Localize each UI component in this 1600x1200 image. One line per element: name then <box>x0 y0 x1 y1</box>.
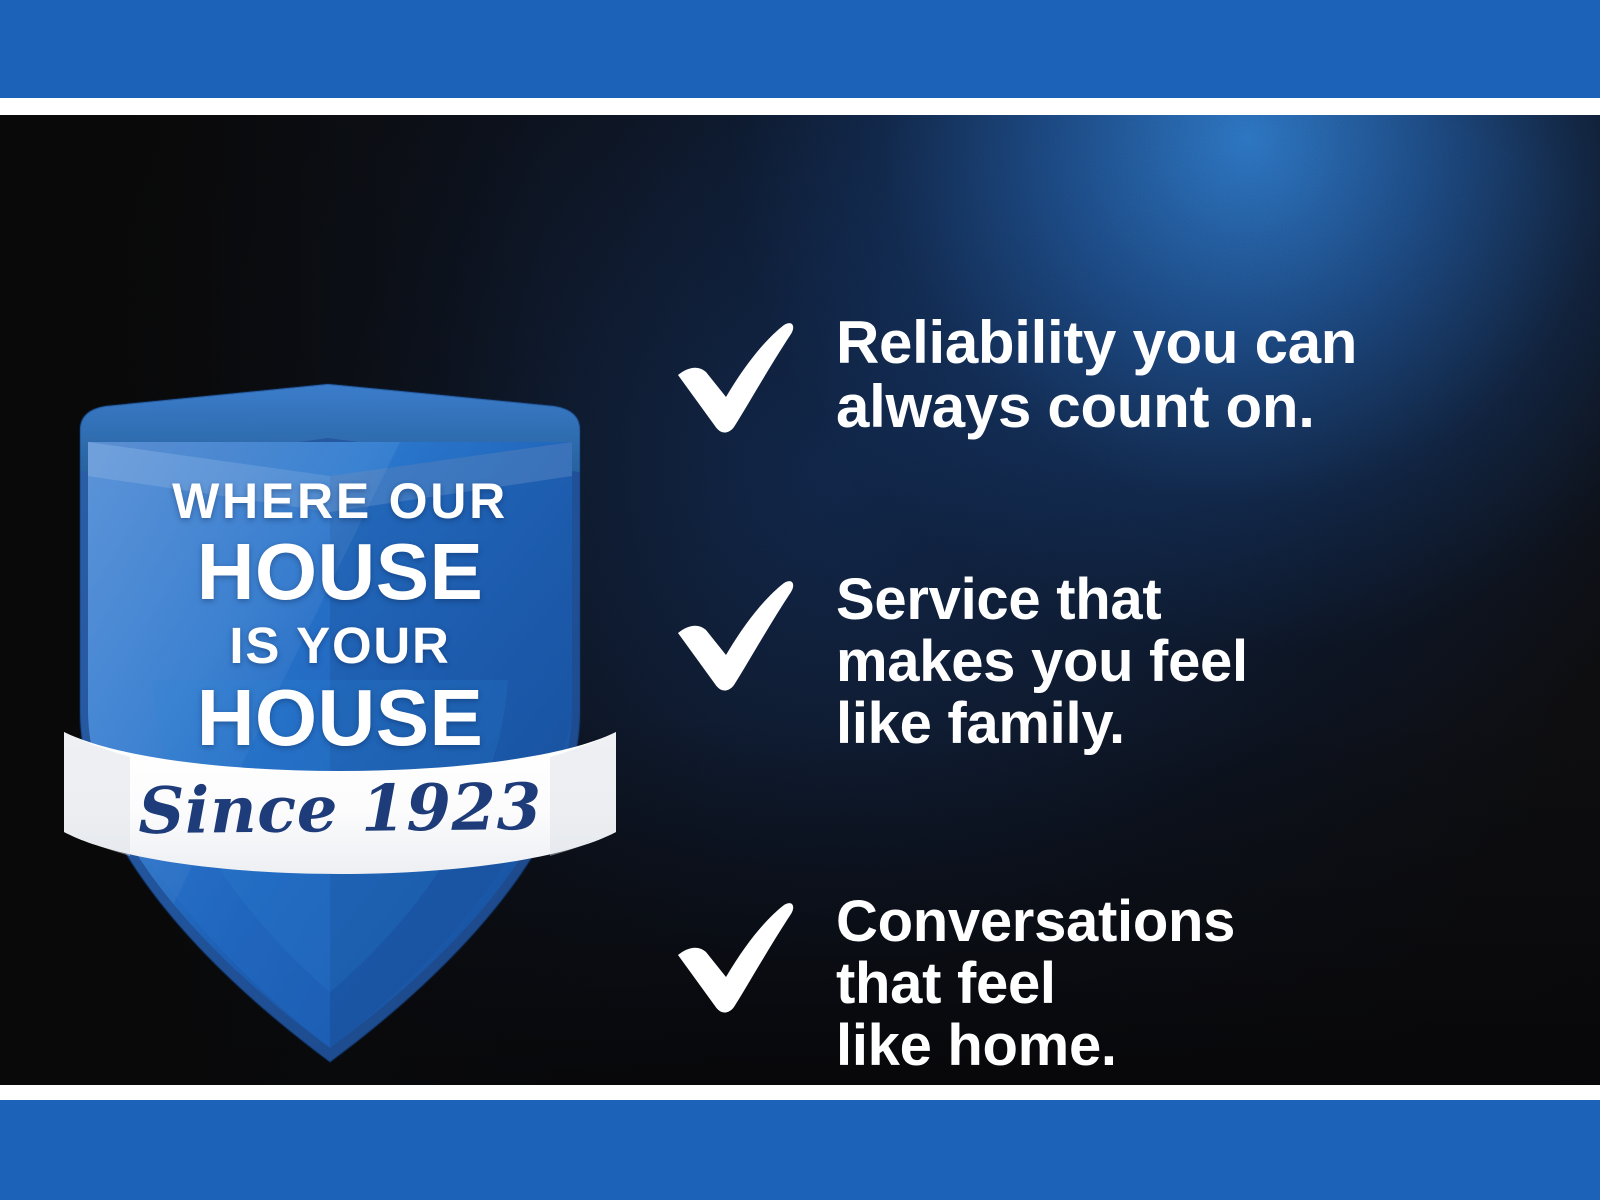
checkmark-icon <box>668 575 796 693</box>
shield-badge: WHERE OUR HOUSE IS YOUR HOUSE Since 1923 <box>60 380 620 1070</box>
list-item-text: Conversations that feel like home. <box>836 891 1488 1077</box>
promo-graphic: WHERE OUR HOUSE IS YOUR HOUSE Since 1923… <box>0 0 1600 1200</box>
bottom-brand-bar <box>0 1100 1600 1200</box>
list-item-line: Conversations <box>836 891 1488 953</box>
top-brand-bar <box>0 0 1600 98</box>
list-item-text: Reliability you can always count on. <box>836 311 1488 439</box>
top-white-divider <box>0 98 1600 115</box>
checkmark-icon <box>668 317 796 435</box>
main-panel: WHERE OUR HOUSE IS YOUR HOUSE Since 1923… <box>0 115 1600 1085</box>
list-item-line: like family. <box>836 693 1488 755</box>
list-item-line: Reliability you can <box>836 311 1488 375</box>
bottom-white-divider <box>0 1085 1600 1100</box>
list-item-line: like home. <box>836 1015 1488 1077</box>
list-item: Conversations that feel like home. <box>668 891 1488 1077</box>
list-item: Service that makes you feel like family. <box>668 569 1488 755</box>
list-item-line: Service that <box>836 569 1488 631</box>
list-item: Reliability you can always count on. <box>668 311 1488 439</box>
checkmark-icon <box>668 897 796 1015</box>
list-item-line: that feel <box>836 953 1488 1015</box>
list-item-text: Service that makes you feel like family. <box>836 569 1488 755</box>
list-item-line: always count on. <box>836 375 1488 439</box>
list-item-line: makes you feel <box>836 631 1488 693</box>
